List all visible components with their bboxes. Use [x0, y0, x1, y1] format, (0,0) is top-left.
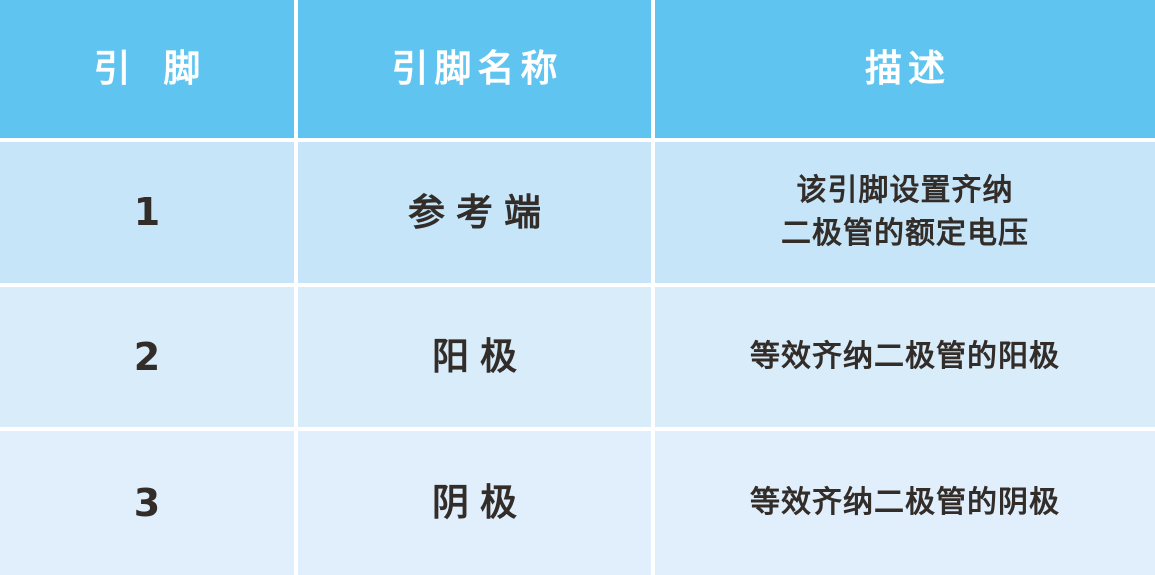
- description-text-block: 等效齐纳二极管的阴极: [750, 482, 1060, 525]
- table-row: 2 阳极 等效齐纳二极管的阳极: [0, 287, 1155, 427]
- cell-description: 等效齐纳二极管的阴极: [655, 431, 1155, 575]
- cell-pin-name: 阳极: [298, 287, 651, 427]
- description-text-block: 等效齐纳二极管的阳极: [750, 336, 1060, 379]
- pin-description-table: 引 脚 引脚名称 描述 1 参考端 该引脚设置齐纳 二极管的额定电压 2 阳极 …: [0, 0, 1155, 575]
- cell-pin-name: 阴极: [298, 431, 651, 575]
- cell-pin-number: 1: [0, 142, 294, 283]
- cell-pin-number: 2: [0, 287, 294, 427]
- cell-description: 等效齐纳二极管的阳极: [655, 287, 1155, 427]
- table-header-row: 引 脚 引脚名称 描述: [0, 0, 1155, 138]
- column-header-pin: 引 脚: [0, 0, 294, 138]
- table-row: 1 参考端 该引脚设置齐纳 二极管的额定电压: [0, 142, 1155, 283]
- table-row: 3 阴极 等效齐纳二极管的阴极: [0, 431, 1155, 575]
- description-text-block: 该引脚设置齐纳 二极管的额定电压: [781, 170, 1029, 255]
- description-line: 等效齐纳二极管的阴极: [750, 482, 1060, 525]
- column-header-pin-name: 引脚名称: [298, 0, 651, 138]
- description-line: 等效齐纳二极管的阳极: [750, 336, 1060, 379]
- cell-description: 该引脚设置齐纳 二极管的额定电压: [655, 142, 1155, 283]
- cell-pin-name: 参考端: [298, 142, 651, 283]
- description-line: 二极管的额定电压: [781, 213, 1029, 256]
- description-line: 该引脚设置齐纳: [797, 170, 1014, 213]
- cell-pin-number: 3: [0, 431, 294, 575]
- column-header-description: 描述: [655, 0, 1155, 138]
